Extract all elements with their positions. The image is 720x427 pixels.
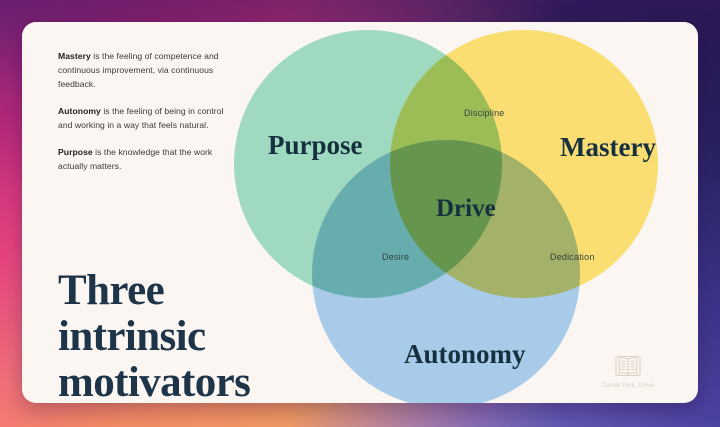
- definition-term-purpose: Purpose: [58, 147, 93, 157]
- venn-label-autonomy: Autonomy: [404, 339, 526, 370]
- venn-overlap-label-desire: Desire: [382, 252, 409, 262]
- definition-purpose: Purpose is the knowledge that the work a…: [58, 146, 230, 174]
- venn-label-purpose: Purpose: [268, 130, 363, 161]
- slide-card: Purpose Mastery Autonomy Drive Disciplin…: [22, 22, 698, 403]
- page-title-line-2: intrinsic: [58, 314, 328, 360]
- definition-term-autonomy: Autonomy: [58, 106, 101, 116]
- venn-label-drive: Drive: [436, 195, 496, 223]
- page-title-line-3: motivators: [58, 360, 328, 403]
- venn-label-mastery: Mastery: [560, 132, 656, 163]
- page-title-line-1: Three: [58, 268, 328, 314]
- attribution: Daniel Pink, Drive: [582, 354, 674, 389]
- attribution-text: Daniel Pink, Drive: [582, 383, 674, 389]
- venn-overlap-label-dedication: Dedication: [550, 252, 595, 262]
- definition-mastery: Mastery is the feeling of competence and…: [58, 50, 230, 92]
- definitions-list: Mastery is the feeling of competence and…: [58, 50, 230, 186]
- page-title: Three intrinsic motivators: [58, 268, 328, 403]
- definition-autonomy: Autonomy is the feeling of being in cont…: [58, 105, 230, 133]
- venn-overlap-label-discipline: Discipline: [464, 108, 505, 118]
- definition-term-mastery: Mastery: [58, 51, 91, 61]
- open-book-icon: [615, 354, 641, 378]
